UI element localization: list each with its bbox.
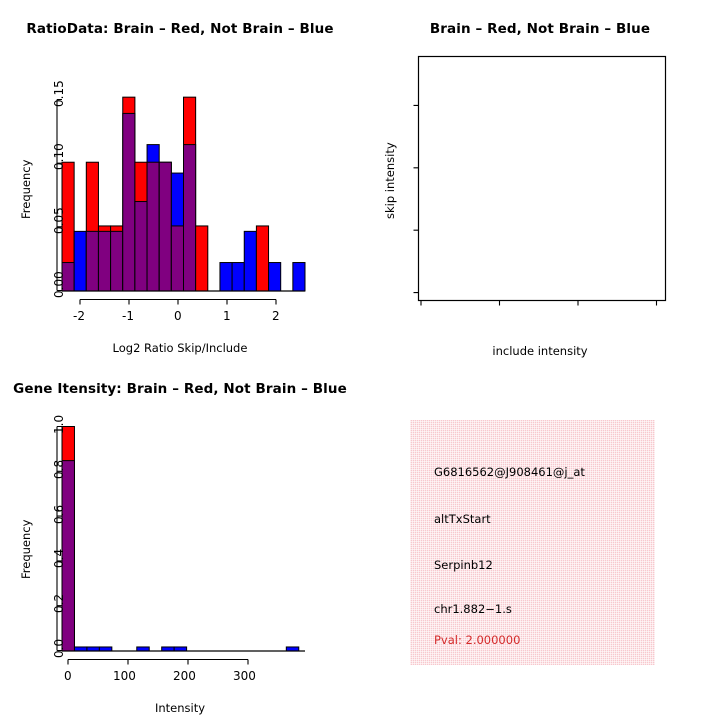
histogram-bar-overlap	[159, 162, 171, 291]
histogram-bar	[269, 263, 281, 291]
ratio-x-tick-4: 2	[272, 309, 280, 323]
histogram-bar	[174, 647, 186, 651]
histogram-bar	[220, 263, 232, 291]
histogram-bar-overlap	[98, 231, 110, 291]
scatter-title: Brain – Red, Not Brain – Blue	[360, 21, 720, 37]
scatter-plot	[360, 0, 720, 360]
ratio-histogram-y-axis	[57, 100, 62, 291]
probe-id-text: G6816562@J908461@j_at	[434, 465, 585, 479]
ratio-x-tick-1: -1	[122, 309, 134, 323]
gene-y-tick-1: 0.2	[52, 594, 66, 613]
histogram-bar-overlap	[147, 162, 159, 291]
scatter-plot-frame	[419, 57, 666, 301]
panel-ratio-histogram: RatioData: Brain – Red, Not Brain – Blue…	[0, 0, 360, 360]
histogram-bar	[286, 647, 298, 651]
gene-histogram-x-axis	[68, 660, 248, 665]
scatter-x-ticks	[421, 301, 657, 306]
histogram-bar	[74, 647, 86, 651]
histogram-bar-overlap	[123, 113, 135, 291]
gene-y-tick-4: 0.8	[52, 460, 66, 479]
ratio-y-tick-1: 0.05	[52, 207, 66, 234]
ratio-y-tick-3: 0.15	[52, 80, 66, 107]
ratio-x-tick-3: 1	[223, 309, 231, 323]
gene-y-tick-3: 0.6	[52, 505, 66, 524]
gene-histogram-y-label: Frequency	[19, 520, 33, 579]
scatter-x-label: include intensity	[360, 344, 720, 358]
histogram-bar	[293, 263, 305, 291]
ratio-x-tick-0: -2	[73, 309, 85, 323]
ratio-histogram-x-label: Log2 Ratio Skip/Include	[0, 341, 360, 355]
histogram-bar-overlap	[171, 226, 183, 291]
ratio-y-tick-0: 0.00	[52, 271, 66, 298]
histogram-bar	[232, 263, 244, 291]
gene-symbol-text: Serpinb12	[434, 558, 493, 572]
gene-x-tick-0: 0	[64, 669, 72, 683]
scatter-y-ticks	[414, 105, 419, 292]
histogram-bar	[162, 647, 174, 651]
gene-histogram-y-ticks	[57, 471, 62, 605]
gene-histogram-x-label: Intensity	[0, 701, 360, 715]
histogram-bar-overlap	[184, 145, 196, 291]
histogram-bar-overlap	[135, 202, 147, 291]
histogram-bar-overlap	[111, 231, 123, 291]
ratio-histogram-y-label: Frequency	[19, 160, 33, 219]
gene-info-panel: G6816562@J908461@j_at altTxStart Serpinb…	[410, 420, 655, 665]
gene-y-tick-5: 1.0	[52, 415, 66, 434]
panel-gene-histogram: Gene Itensity: Brain – Red, Not Brain – …	[0, 360, 360, 720]
ratio-x-tick-2: 0	[174, 309, 182, 323]
histogram-bar	[137, 647, 149, 651]
histogram-bar	[244, 231, 256, 291]
gene-histogram-x-ticks	[128, 660, 188, 665]
gene-x-tick-2: 200	[173, 669, 196, 683]
locus-text: chr1.882−1.s	[434, 602, 512, 616]
ratio-histogram-title: RatioData: Brain – Red, Not Brain – Blue	[0, 21, 360, 37]
histogram-bar	[74, 231, 86, 291]
ratio-histogram-x-ticks	[129, 300, 227, 305]
gene-y-tick-2: 0.4	[52, 549, 66, 568]
pval-text: Pval: 2.000000	[434, 633, 520, 647]
histogram-bar	[99, 647, 111, 651]
event-type-text: altTxStart	[434, 512, 491, 526]
ratio-histogram-plot	[0, 0, 360, 360]
figure-canvas: RatioData: Brain – Red, Not Brain – Blue…	[0, 0, 720, 720]
histogram-bar	[87, 647, 99, 651]
gene-x-tick-3: 300	[233, 669, 256, 683]
gene-x-tick-1: 100	[113, 669, 136, 683]
gene-y-tick-0: 0.0	[52, 639, 66, 658]
scatter-y-label: skip intensity	[383, 142, 397, 219]
histogram-bar-overlap	[86, 231, 98, 291]
panel-scatter: Brain – Red, Not Brain – Blue 0 100 200 …	[360, 0, 720, 360]
gene-histogram-title: Gene Itensity: Brain – Red, Not Brain – …	[0, 381, 360, 397]
ratio-y-tick-2: 0.10	[52, 143, 66, 170]
histogram-bar	[196, 226, 208, 291]
histogram-bar	[256, 226, 268, 291]
